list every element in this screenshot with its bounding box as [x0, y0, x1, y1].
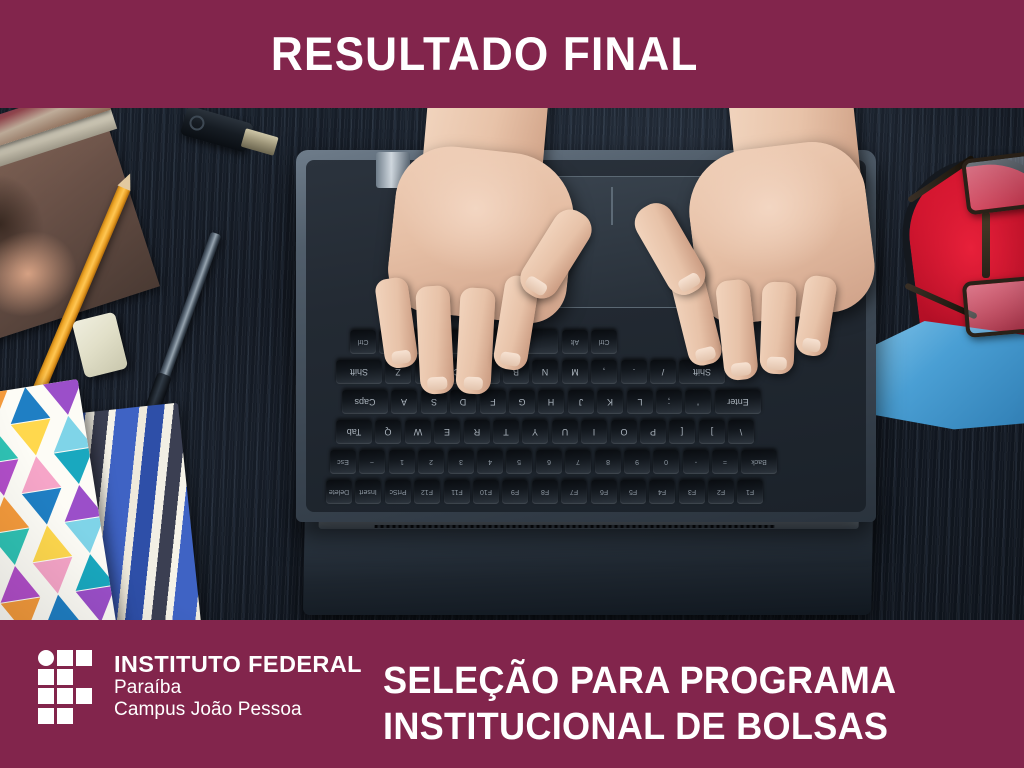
footer-headline-line1: SELEÇÃO PARA PROGRAMA [383, 658, 896, 704]
logo-cell [57, 688, 73, 704]
logo-cell [76, 650, 92, 666]
logo-cell [38, 708, 54, 724]
logo-cell [57, 669, 73, 685]
left-hand [358, 90, 658, 410]
left-finger-3 [455, 287, 495, 395]
footer-headline-line2: INSTITUCIONAL DE BOLSAS [383, 704, 896, 750]
institution-logo-text: INSTITUTO FEDERAL Paraíba Campus João Pe… [114, 648, 362, 720]
institution-name: INSTITUTO FEDERAL [114, 652, 362, 677]
page-title: RESULTADO FINAL [31, 26, 994, 81]
logo-cell [57, 650, 73, 666]
left-finger-2 [415, 285, 455, 395]
footer-headline: SELEÇÃO PARA PROGRAMA INSTITUCIONAL DE B… [383, 658, 896, 751]
poster-canvas: DeleteInsertPrtScF12F11F10F9F8F7F6F5F4F3… [0, 0, 1024, 768]
logo-cell [38, 650, 54, 666]
logo-cell [76, 688, 92, 704]
logo-cell [38, 688, 54, 704]
logo-cell [38, 669, 54, 685]
institution-campus: Campus João Pessoa [114, 699, 362, 721]
logo-cell [57, 708, 73, 724]
footer-bar: INSTITUTO FEDERAL Paraíba Campus João Pe… [0, 620, 1024, 768]
institution-state: Paraíba [114, 677, 362, 699]
right-hand [620, 80, 930, 410]
ifpb-logo-mark-icon [38, 650, 100, 728]
right-finger-3 [759, 281, 796, 374]
institution-logo: INSTITUTO FEDERAL Paraíba Campus João Pe… [38, 648, 362, 728]
header-bar: RESULTADO FINAL [0, 0, 1024, 108]
